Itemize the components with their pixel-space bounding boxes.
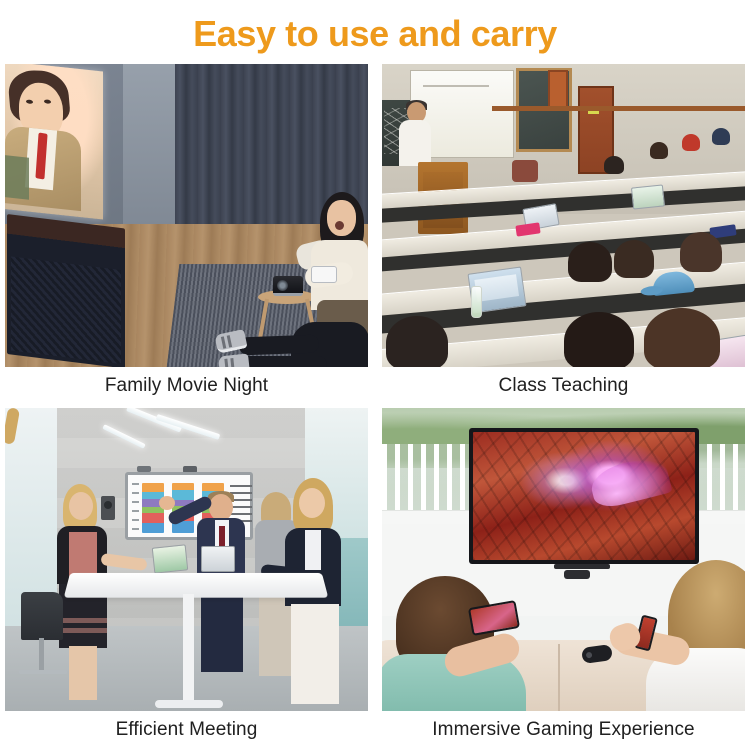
wall-trim (492, 106, 745, 111)
meeting-tablet-gray (201, 546, 235, 572)
professor-body (399, 120, 431, 166)
seated-woman-mouth (335, 221, 344, 230)
photo-immersive-gaming (382, 408, 745, 711)
game-scene (473, 432, 695, 560)
game-magic-effect (587, 453, 672, 511)
panel-class-teaching: Class Teaching (382, 64, 745, 407)
large-display-screen (469, 428, 699, 564)
student-back-d (712, 128, 730, 145)
lying-person-leg-upper (239, 335, 320, 356)
water-bottle (471, 286, 482, 318)
product-feature-page: Easy to use and carry (0, 0, 750, 750)
student-foreground-right (644, 308, 720, 367)
portable-projector-device (273, 276, 303, 296)
office-chair-base (19, 670, 67, 674)
photo-family-movie-night (5, 64, 368, 367)
student-mid-c (680, 232, 722, 272)
student-foreground-center (564, 312, 634, 367)
panel-efficient-meeting: Efficient Meeting (5, 408, 368, 750)
streaming-device (564, 570, 590, 579)
student-back-b (650, 142, 668, 159)
panel-grid: Family Movie Night (5, 64, 745, 712)
display-stand (554, 564, 610, 569)
office-chair-stem (39, 638, 44, 672)
caption-immersive-gaming: Immersive Gaming Experience (382, 711, 745, 750)
woman-right-shirt (305, 530, 321, 570)
sneaker-right (218, 353, 250, 367)
student-laptop-far (631, 184, 665, 209)
caption-class-teaching: Class Teaching (382, 367, 745, 407)
woman-right-face (299, 488, 325, 518)
chart-axis-labels (132, 483, 139, 533)
wall-speaker (101, 496, 115, 520)
woman-left-legs (69, 646, 97, 700)
woman-right-trousers (291, 604, 339, 704)
classroom-chair (512, 160, 538, 182)
movie-character-eye-left (26, 99, 33, 104)
projected-movie-image (5, 64, 103, 219)
student-back-c (682, 134, 700, 151)
woman-left-face (69, 492, 93, 520)
office-chair (21, 592, 63, 640)
movie-character-eye-right (44, 99, 51, 104)
page-title: Easy to use and carry (0, 12, 750, 56)
photo-class-teaching (382, 64, 745, 367)
presenter-hand (159, 496, 175, 510)
movie-scene-foliage (5, 155, 29, 200)
caption-efficient-meeting: Efficient Meeting (5, 711, 368, 750)
sofa-cushion-seam (558, 644, 560, 711)
lying-person-leg-lower (241, 356, 327, 367)
presenter-head (209, 494, 233, 521)
panel-immersive-gaming: Immersive Gaming Experience (382, 408, 745, 750)
seated-woman-face (327, 200, 356, 236)
seated-woman-phone (311, 266, 337, 283)
table-center-leg (183, 594, 194, 704)
student-back-a (604, 156, 624, 174)
upper-door-panel (548, 70, 568, 110)
meeting-tablet-green (152, 544, 189, 573)
table-base (155, 700, 223, 708)
presenter-trousers (201, 590, 243, 672)
panel-family-movie-night: Family Movie Night (5, 64, 368, 407)
student-mid-a (568, 242, 612, 282)
media-cabinet (7, 214, 125, 367)
photo-efficient-meeting (5, 408, 368, 711)
standing-conference-table (64, 573, 329, 598)
student-foreground-left (386, 316, 448, 367)
caption-family-movie-night: Family Movie Night (5, 367, 368, 407)
student-mid-b (614, 240, 654, 278)
